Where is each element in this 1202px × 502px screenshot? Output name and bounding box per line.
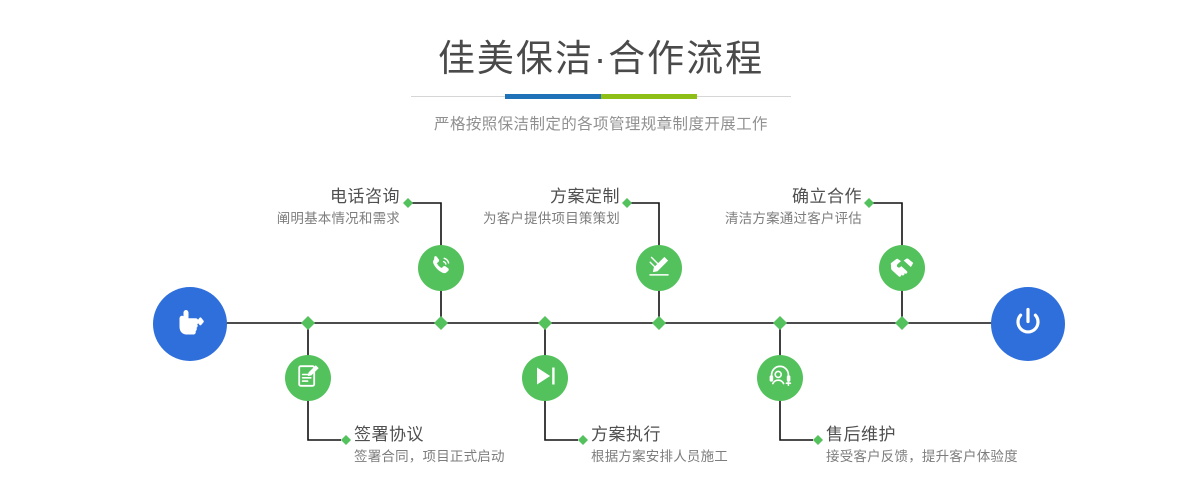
label-confirm-cooperation: 确立合作 清洁方案通过客户评估 — [620, 186, 862, 229]
label-plan-execution: 方案执行 根据方案安排人员施工 — [591, 424, 728, 467]
label-sign-agreement: 签署协议 签署合同，项目正式启动 — [354, 424, 505, 467]
node-icon-plan-execution[interactable] — [522, 355, 568, 401]
process-flow-diagram: 电话咨询 阐明基本情况和需求 方案定制 为客户提供项目策策划 确立合作 清洁方案… — [0, 0, 1202, 502]
label-desc: 为客户提供项目策策划 — [380, 209, 620, 229]
node-icon-plan-customization[interactable] — [636, 245, 682, 291]
support-agent-icon — [767, 363, 793, 394]
flow-start-node[interactable] — [153, 287, 227, 361]
label-desc: 签署合同，项目正式启动 — [354, 447, 505, 467]
label-desc: 根据方案安排人员施工 — [591, 447, 728, 467]
handshake-icon — [888, 252, 916, 285]
label-title: 确立合作 — [620, 186, 862, 209]
label-plan-customization: 方案定制 为客户提供项目策策划 — [380, 186, 620, 229]
node-icon-after-sales[interactable] — [757, 355, 803, 401]
label-after-sales: 售后维护 接受客户反馈，提升客户体验度 — [826, 424, 1018, 467]
phone-call-icon — [428, 253, 454, 284]
label-title: 签署协议 — [354, 424, 505, 447]
node-icon-confirm-cooperation[interactable] — [879, 245, 925, 291]
power-icon — [1008, 302, 1048, 347]
pencil-design-icon — [646, 253, 672, 284]
label-diamond-markers — [341, 198, 874, 445]
label-desc: 接受客户反馈，提升客户体验度 — [826, 447, 1018, 467]
label-title: 售后维护 — [826, 424, 1018, 447]
document-edit-icon — [295, 363, 321, 394]
label-desc: 阐明基本情况和需求 — [150, 209, 400, 229]
label-phone-consultation: 电话咨询 阐明基本情况和需求 — [150, 186, 400, 229]
pointing-hand-icon — [170, 302, 210, 347]
label-title: 方案定制 — [380, 186, 620, 209]
label-title: 方案执行 — [591, 424, 728, 447]
label-title: 电话咨询 — [150, 186, 400, 209]
node-icon-sign-agreement[interactable] — [285, 355, 331, 401]
play-execute-icon — [532, 363, 558, 394]
flow-end-node[interactable] — [991, 287, 1065, 361]
label-desc: 清洁方案通过客户评估 — [620, 209, 862, 229]
node-icon-phone-consultation[interactable] — [418, 245, 464, 291]
